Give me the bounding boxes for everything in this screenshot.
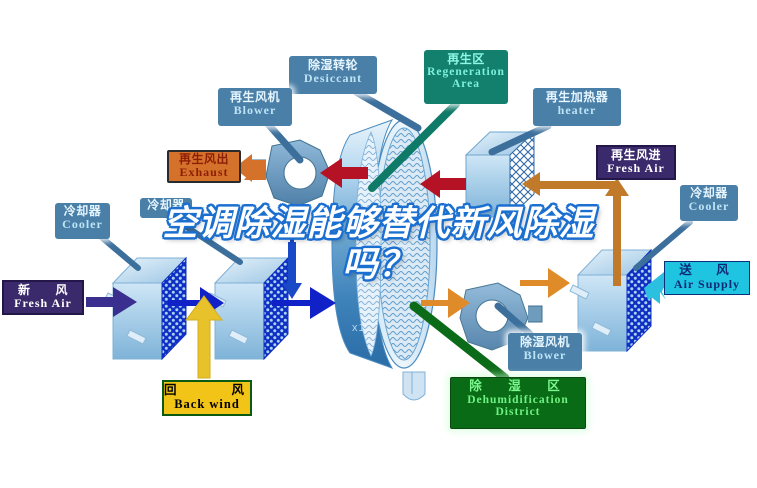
label-regeneration-blower: 再生风机 Blower bbox=[218, 88, 292, 126]
label-regeneration-heater: 再生加热器 heater bbox=[533, 88, 621, 126]
page-title: 空调除湿能够替代新风除湿 吗？ bbox=[0, 203, 757, 285]
label-exhaust-cn: 再生风出 bbox=[169, 153, 239, 166]
label-fresh-air-left: 新 风 Fresh Air bbox=[2, 280, 84, 315]
label-regeneration-area: 再生区 Regeneration Area bbox=[424, 50, 508, 104]
diagram-canvas: x1 除湿转轮 Desiccant 再生风机 Blower 再生风出 Exhau… bbox=[0, 0, 757, 488]
label-regen-area-cn: 再生区 bbox=[424, 53, 508, 66]
label-dehum-blower-cn: 除湿风机 bbox=[508, 336, 582, 349]
label-desiccant-cn: 除湿转轮 bbox=[289, 59, 377, 72]
label-heater-cn: 再生加热器 bbox=[533, 91, 621, 104]
watermark-text: x1 bbox=[352, 322, 366, 334]
label-fresh-air-left-en: Fresh Air bbox=[4, 297, 82, 310]
label-exhaust-en: Exhaust bbox=[169, 166, 239, 179]
label-desiccant: 除湿转轮 Desiccant bbox=[289, 56, 377, 94]
label-dehum-blower-en: Blower bbox=[508, 349, 582, 362]
label-desiccant-en: Desiccant bbox=[289, 72, 377, 85]
label-dehum-district-cn: 除 湿 区 bbox=[451, 380, 585, 394]
label-fresh-air-right-cn: 再生风进 bbox=[598, 149, 674, 162]
label-heater-en: heater bbox=[533, 104, 621, 117]
page-title-line2: 吗？ bbox=[0, 244, 757, 285]
label-exhaust: 再生风出 Exhaust bbox=[167, 150, 241, 183]
label-dehum-district-en: Dehumidification District bbox=[451, 394, 585, 419]
label-dehumidification-blower: 除湿风机 Blower bbox=[508, 333, 582, 371]
label-regen-blower-en: Blower bbox=[218, 104, 292, 117]
label-cooler-right-cn: 冷却器 bbox=[680, 187, 738, 200]
label-regen-blower-cn: 再生风机 bbox=[218, 91, 292, 104]
label-back-wind: 回 风 Back wind bbox=[162, 380, 252, 416]
label-back-wind-en: Back wind bbox=[164, 398, 250, 412]
label-fresh-air-right-en: Fresh Air bbox=[598, 162, 674, 175]
label-regen-area-en: Regeneration Area bbox=[424, 66, 508, 91]
label-back-wind-cn: 回 风 bbox=[164, 384, 250, 398]
label-fresh-air-left-cn: 新 风 bbox=[4, 284, 82, 297]
condensate-drain bbox=[403, 372, 425, 400]
label-dehumidification-district: 除 湿 区 Dehumidification District bbox=[450, 377, 586, 429]
label-fresh-air-right: 再生风进 Fresh Air bbox=[596, 145, 676, 180]
page-title-line1: 空调除湿能够替代新风除湿 bbox=[162, 204, 594, 243]
